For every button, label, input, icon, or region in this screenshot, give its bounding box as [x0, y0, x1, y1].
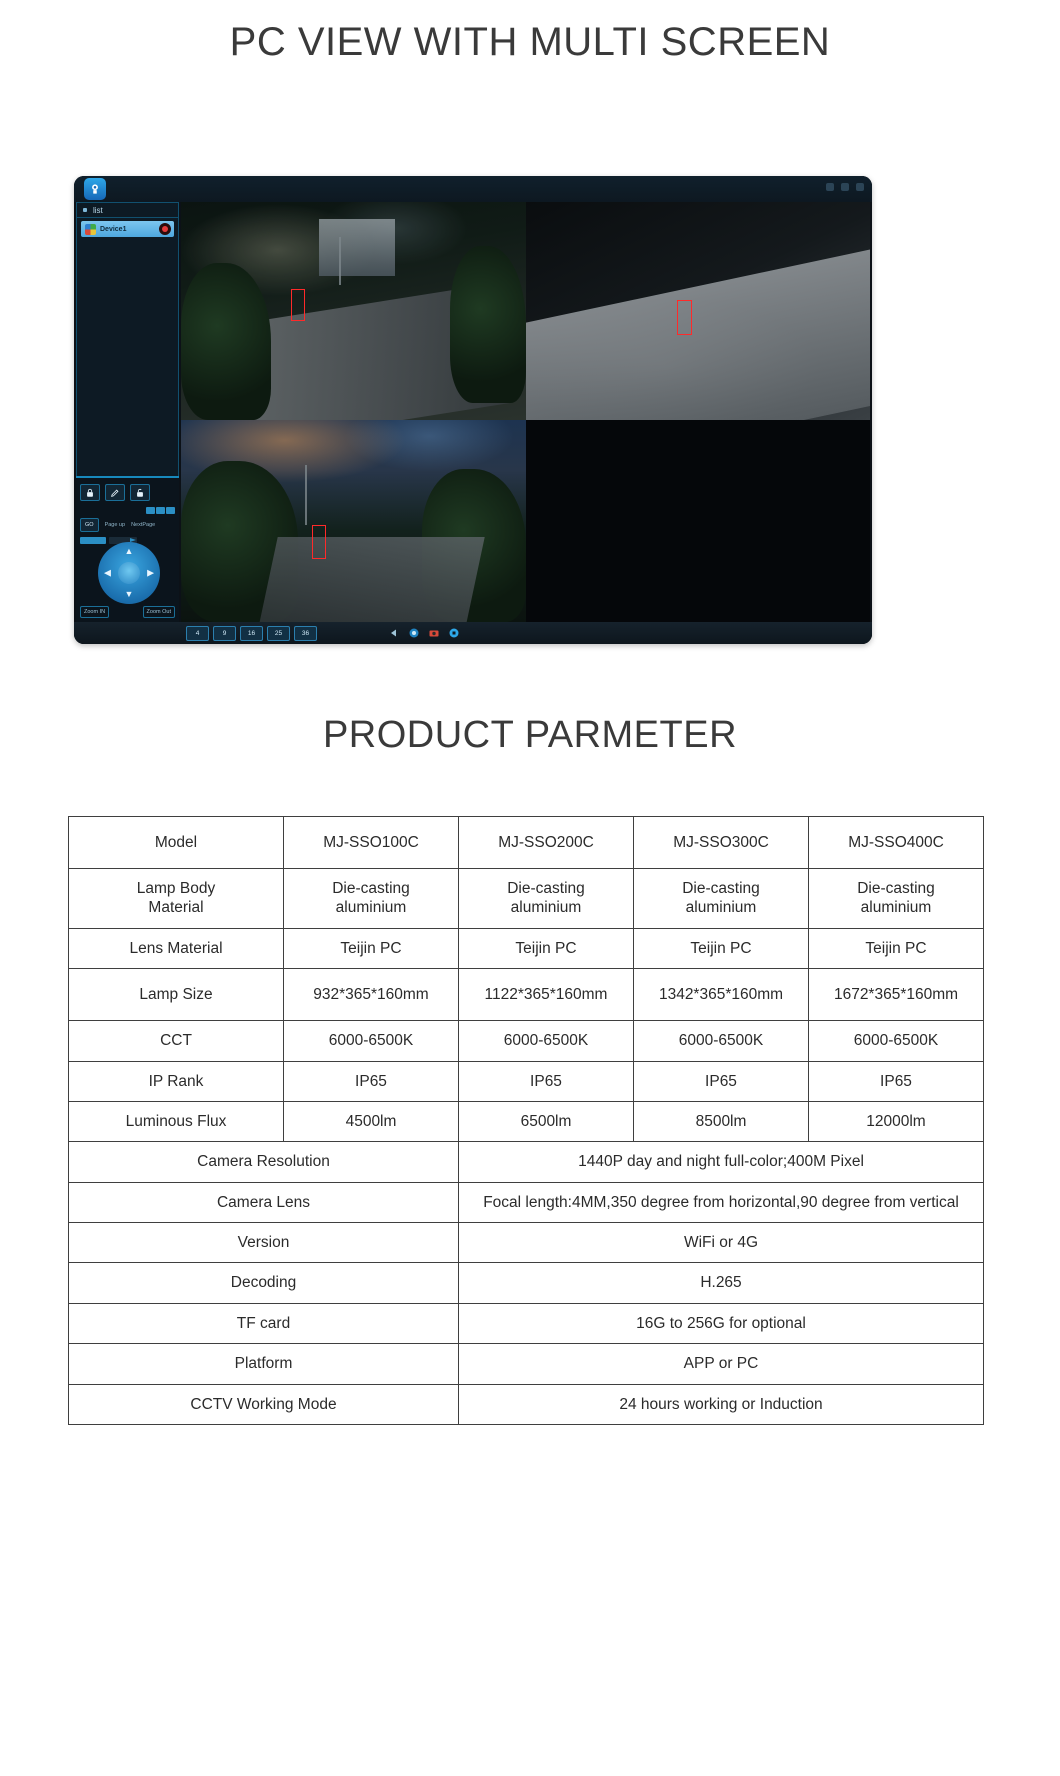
cell-tf-card: 16G to 256G for optional — [459, 1303, 984, 1343]
next-page-label[interactable]: NextPage — [131, 522, 155, 528]
pc-client-screenshot: list Device1 GO — [74, 176, 872, 644]
cell-model-2: MJ-SSO200C — [459, 817, 634, 869]
cell-lens-3: Teijin PC — [634, 928, 809, 968]
page-up-label[interactable]: Page up — [105, 522, 126, 528]
table-row-platform: Platform APP or PC — [69, 1344, 984, 1384]
zoom-in-button[interactable]: Zoom IN — [80, 606, 109, 618]
device-name-label: Device1 — [100, 226, 126, 233]
row-label: Decoding — [69, 1263, 459, 1303]
row-label: Lamp Size — [69, 969, 284, 1021]
cell-cct-3: 6000-6500K — [634, 1021, 809, 1061]
cell-flux-4: 12000lm — [809, 1101, 984, 1141]
row-label: Model — [69, 817, 284, 869]
page-indicator — [80, 507, 175, 514]
cell-model-3: MJ-SSO300C — [634, 817, 809, 869]
cell-model-1: MJ-SSO100C — [284, 817, 459, 869]
table-row-cctv-working-mode: CCTV Working Mode 24 hours working or In… — [69, 1384, 984, 1424]
cell-ip-3: IP65 — [634, 1061, 809, 1101]
window-controls[interactable] — [826, 183, 864, 191]
device-list-item[interactable]: Device1 — [81, 221, 174, 237]
split-view-9[interactable]: 9 — [213, 626, 236, 641]
maximize-icon[interactable] — [841, 183, 849, 191]
cell-version: WiFi or 4G — [459, 1223, 984, 1263]
scene-road — [526, 244, 871, 420]
table-row-tf-card: TF card 16G to 256G for optional — [69, 1303, 984, 1343]
table-body: Model MJ-SSO100C MJ-SSO200C MJ-SSO300C M… — [69, 817, 984, 1425]
cell-platform: APP or PC — [459, 1344, 984, 1384]
cell-ip-4: IP65 — [809, 1061, 984, 1101]
row-label: CCTV Working Mode — [69, 1384, 459, 1424]
app-bottom-toolbar: 4 9 16 25 36 — [74, 622, 872, 644]
cell-lens-2: Teijin PC — [459, 928, 634, 968]
cell-cctv-working-mode: 24 hours working or Induction — [459, 1384, 984, 1424]
table-row-lamp-size: Lamp Size 932*365*160mm 1122*365*160mm 1… — [69, 969, 984, 1021]
scene-lamp-post — [305, 465, 307, 525]
row-label: CCT — [69, 1021, 284, 1061]
previous-icon[interactable] — [387, 626, 401, 640]
row-label: Platform — [69, 1344, 459, 1384]
scene-building — [319, 219, 395, 276]
cell-cct-4: 6000-6500K — [809, 1021, 984, 1061]
cell-decoding: H.265 — [459, 1263, 984, 1303]
section-title: PRODUCT PARMETER — [0, 706, 1060, 757]
video-grid — [181, 202, 870, 622]
table-row-camera-resolution: Camera Resolution 1440P day and night fu… — [69, 1142, 984, 1182]
camera-logo-icon — [84, 178, 106, 200]
device-list-header: list — [77, 203, 178, 218]
cell-camera-resolution: 1440P day and night full-color;400M Pixe… — [459, 1142, 984, 1182]
edit-icon[interactable] — [105, 484, 125, 501]
cell-size-3: 1342*365*160mm — [634, 969, 809, 1021]
media-control-buttons — [387, 626, 461, 640]
split-view-16[interactable]: 16 — [240, 626, 263, 641]
table-row-ip-rank: IP Rank IP65 IP65 IP65 IP65 — [69, 1061, 984, 1101]
detection-box — [312, 525, 326, 559]
video-pane-2[interactable] — [526, 202, 871, 420]
row-label: Luminous Flux — [69, 1101, 284, 1141]
unlock-icon[interactable] — [130, 484, 150, 501]
scene-foliage-right — [450, 246, 526, 403]
cell-material-4: Die-castingaluminium — [809, 869, 984, 929]
record-icon[interactable] — [407, 626, 421, 640]
split-view-36[interactable]: 36 — [294, 626, 317, 641]
scene-lamp-post — [339, 237, 341, 285]
row-label: IP Rank — [69, 1061, 284, 1101]
chevron-up-icon[interactable]: ▲ — [125, 547, 134, 556]
table-row-camera-lens: Camera Lens Focal length:4MM,350 degree … — [69, 1182, 984, 1222]
zoom-controls: Zoom IN Zoom Out — [80, 606, 175, 618]
cell-ip-2: IP65 — [459, 1061, 634, 1101]
goto-page-button[interactable]: GO — [80, 518, 99, 532]
audio-icon[interactable] — [447, 626, 461, 640]
row-label: TF card — [69, 1303, 459, 1343]
table-row-lens-material: Lens Material Teijin PC Teijin PC Teijin… — [69, 928, 984, 968]
row-label: Camera Lens — [69, 1182, 459, 1222]
split-screen-buttons: 4 9 16 25 36 — [186, 626, 317, 641]
detection-box — [677, 300, 692, 335]
chevron-left-icon[interactable]: ◀ — [104, 569, 111, 578]
scene-road — [256, 537, 484, 622]
table-row-model: Model MJ-SSO100C MJ-SSO200C MJ-SSO300C M… — [69, 817, 984, 869]
chevron-down-icon[interactable]: ▼ — [125, 590, 134, 599]
cell-camera-lens: Focal length:4MM,350 degree from horizon… — [459, 1182, 984, 1222]
ptz-control-panel: GO Page up NextPage ▲ ▼ ◀ ▶ Zoom IN Zoom… — [76, 476, 179, 622]
row-label: Lamp BodyMaterial — [69, 869, 284, 929]
cell-flux-3: 8500lm — [634, 1101, 809, 1141]
detection-box — [291, 289, 305, 321]
chevron-right-icon[interactable]: ▶ — [147, 569, 154, 578]
cell-size-1: 932*365*160mm — [284, 969, 459, 1021]
video-pane-3[interactable] — [181, 420, 526, 622]
split-view-4[interactable]: 4 — [186, 626, 209, 641]
cell-cct-2: 6000-6500K — [459, 1021, 634, 1061]
pagination-controls: GO Page up NextPage — [80, 518, 175, 532]
split-view-25[interactable]: 25 — [267, 626, 290, 641]
table-row-decoding: Decoding H.265 — [69, 1263, 984, 1303]
cell-lens-4: Teijin PC — [809, 928, 984, 968]
row-label: Lens Material — [69, 928, 284, 968]
lock-icon[interactable] — [80, 484, 100, 501]
table-row-lamp-body-material: Lamp BodyMaterial Die-castingaluminium D… — [69, 869, 984, 929]
device-icon — [85, 224, 96, 235]
cell-flux-1: 4500lm — [284, 1101, 459, 1141]
cell-lens-1: Teijin PC — [284, 928, 459, 968]
app-titlebar — [74, 176, 872, 202]
table-row-cct: CCT 6000-6500K 6000-6500K 6000-6500K 600… — [69, 1021, 984, 1061]
cell-ip-1: IP65 — [284, 1061, 459, 1101]
cell-cct-1: 6000-6500K — [284, 1021, 459, 1061]
cell-flux-2: 6500lm — [459, 1101, 634, 1141]
record-status-icon[interactable] — [159, 223, 171, 235]
minimize-icon[interactable] — [826, 183, 834, 191]
scene-foliage-left — [181, 263, 271, 420]
product-parameter-table: Model MJ-SSO100C MJ-SSO200C MJ-SSO300C M… — [68, 816, 984, 1425]
cell-size-4: 1672*365*160mm — [809, 969, 984, 1021]
zoom-out-button[interactable]: Zoom Out — [143, 606, 175, 618]
cell-model-4: MJ-SSO400C — [809, 817, 984, 869]
table-row-luminous-flux: Luminous Flux 4500lm 6500lm 8500lm 12000… — [69, 1101, 984, 1141]
table-row-version: Version WiFi or 4G — [69, 1223, 984, 1263]
video-pane-1[interactable] — [181, 202, 526, 420]
cell-material-1: Die-castingaluminium — [284, 869, 459, 929]
ptz-direction-pad[interactable]: ▲ ▼ ◀ ▶ — [98, 542, 160, 604]
video-pane-4-empty[interactable] — [526, 420, 871, 622]
snapshot-icon[interactable] — [427, 626, 441, 640]
cell-size-2: 1122*365*160mm — [459, 969, 634, 1021]
cell-material-2: Die-castingaluminium — [459, 869, 634, 929]
cctv-app-window: list Device1 GO — [74, 176, 872, 644]
cell-material-3: Die-castingaluminium — [634, 869, 809, 929]
row-label: Camera Resolution — [69, 1142, 459, 1182]
row-label: Version — [69, 1223, 459, 1263]
tool-button-row — [80, 484, 175, 501]
page-title: PC VIEW WITH MULTI SCREEN — [0, 0, 1060, 66]
close-icon[interactable] — [856, 183, 864, 191]
